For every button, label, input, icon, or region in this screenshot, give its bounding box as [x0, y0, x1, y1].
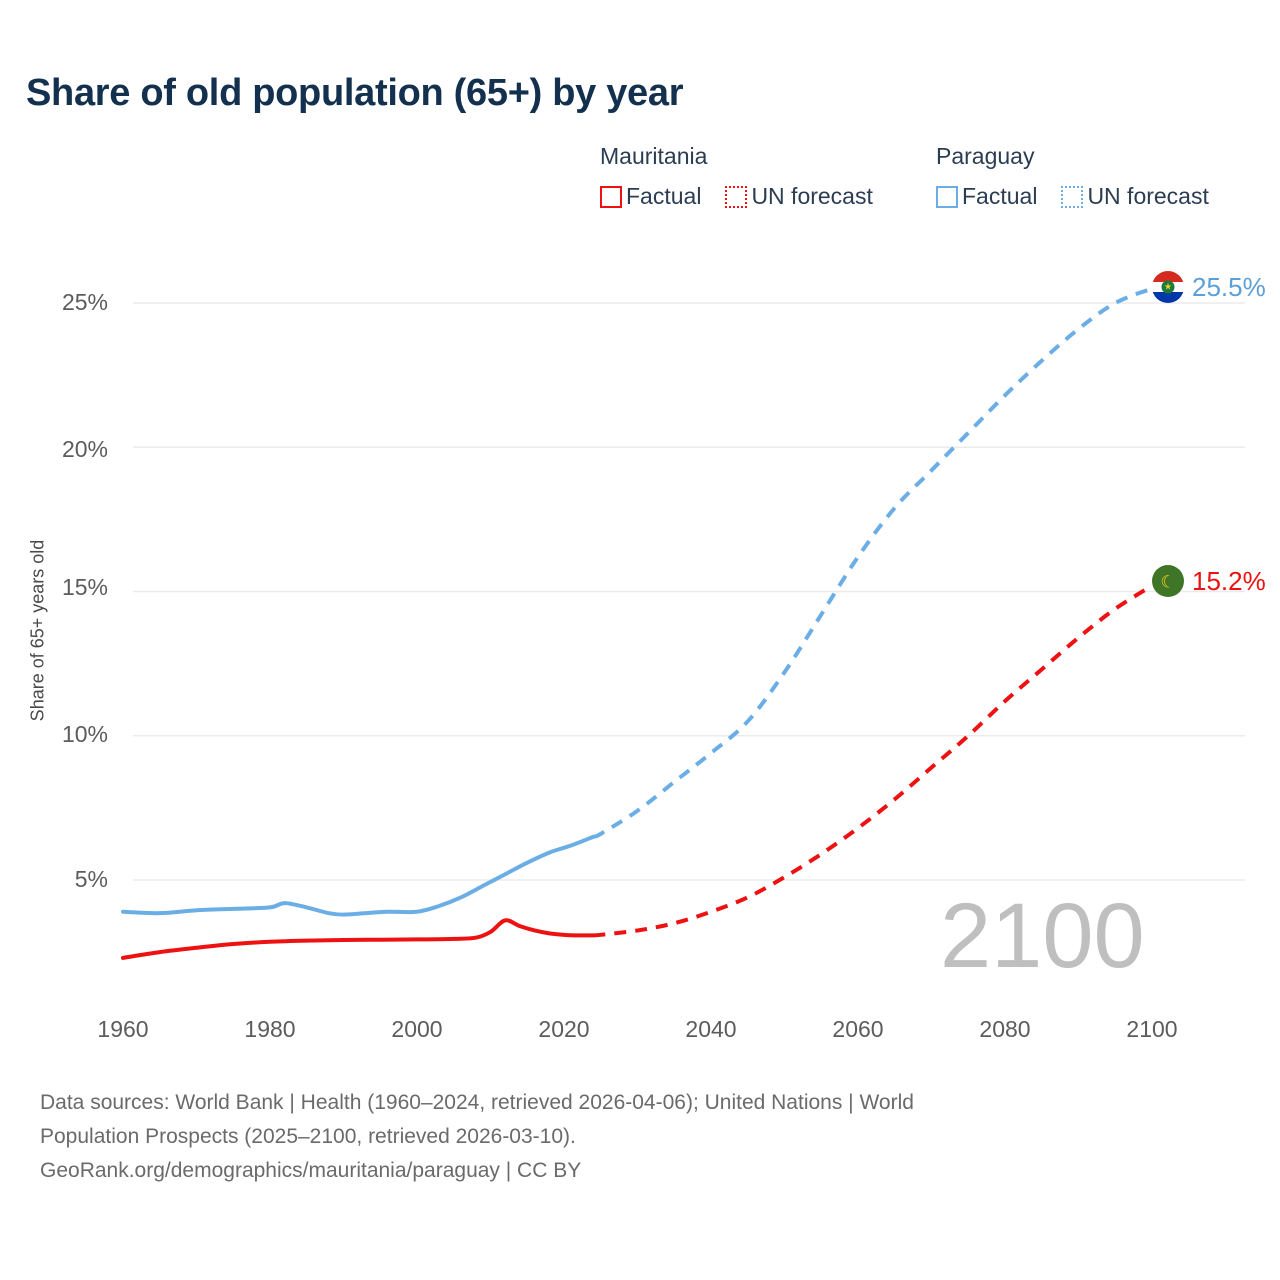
legend-item-label: Factual — [626, 183, 701, 210]
legend-swatch-solid-icon — [936, 186, 958, 208]
x-tick-label: 2040 — [661, 1016, 761, 1043]
legend-item-factual-paraguay[interactable]: Factual — [936, 183, 1037, 210]
x-tick-label: 2000 — [367, 1016, 467, 1043]
series-line-factual-mauritania — [123, 920, 593, 958]
y-tick-label: 10% — [28, 721, 108, 748]
legend-swatch-solid-icon — [600, 186, 622, 208]
legend-item-label: UN forecast — [1087, 183, 1208, 210]
legend-item-forecast-mauritania[interactable]: UN forecast — [725, 183, 872, 210]
watermark-year: 2100 — [940, 884, 1145, 989]
legend-item-forecast-paraguay[interactable]: UN forecast — [1061, 183, 1208, 210]
mauritania-flag-icon: ☾ — [1152, 565, 1184, 597]
y-tick-label: 15% — [28, 574, 108, 601]
legend-swatch-dotted-icon — [1061, 186, 1083, 208]
legend-group-paraguay: Paraguay Factual UN forecast — [936, 142, 1209, 210]
legend-swatch-dotted-icon — [725, 186, 747, 208]
legend-item-label: UN forecast — [751, 183, 872, 210]
series-lines — [123, 289, 1152, 958]
endpoint-mauritania: ☾ 15.2% — [1152, 565, 1266, 597]
x-tick-label: 1980 — [220, 1016, 320, 1043]
x-tick-label: 1960 — [73, 1016, 173, 1043]
chart-container: Share of old population (65+) by year Ma… — [0, 0, 1280, 1280]
footer-line: Population Prospects (2025–2100, retriev… — [40, 1120, 1200, 1154]
legend-item-factual-mauritania[interactable]: Factual — [600, 183, 701, 210]
gridlines — [133, 303, 1245, 880]
x-tick-label: 2100 — [1102, 1016, 1202, 1043]
endpoint-value: 15.2% — [1192, 566, 1266, 597]
series-line-forecast-mauritania — [593, 586, 1152, 936]
footer-line[interactable]: GeoRank.org/demographics/mauritania/para… — [40, 1154, 1200, 1188]
y-tick-label: 25% — [28, 289, 108, 316]
footer-line: Data sources: World Bank | Health (1960–… — [40, 1086, 1200, 1120]
series-line-forecast-paraguay — [593, 289, 1152, 837]
y-tick-label: 5% — [28, 866, 108, 893]
x-tick-label: 2080 — [955, 1016, 1055, 1043]
x-tick-label: 2020 — [514, 1016, 614, 1043]
page-title: Share of old population (65+) by year — [26, 72, 683, 115]
legend-item-label: Factual — [962, 183, 1037, 210]
legend-country-name: Mauritania — [600, 142, 873, 170]
endpoint-value: 25.5% — [1192, 272, 1266, 303]
legend-group-mauritania: Mauritania Factual UN forecast — [600, 142, 873, 210]
x-tick-label: 2060 — [808, 1016, 908, 1043]
footer-sources: Data sources: World Bank | Health (1960–… — [40, 1086, 1200, 1188]
paraguay-flag-icon: ★ — [1152, 271, 1184, 303]
series-line-factual-paraguay — [123, 837, 593, 915]
legend-country-name: Paraguay — [936, 142, 1209, 170]
y-tick-label: 20% — [28, 436, 108, 463]
chart-legend: Mauritania Factual UN forecast Paraguay … — [600, 142, 1260, 222]
endpoint-paraguay: ★ 25.5% — [1152, 271, 1266, 303]
